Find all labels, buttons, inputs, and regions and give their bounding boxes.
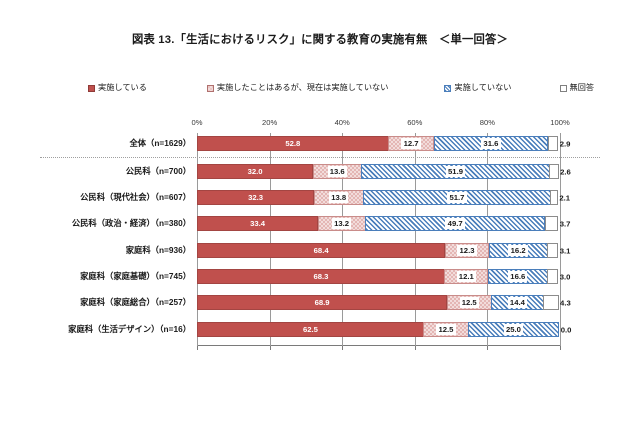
segment-no-answer[interactable]: 2.1 (550, 190, 558, 205)
row-category-label: 公民科（政治・経済）（n=380） (72, 216, 191, 231)
segment-past-only[interactable]: 12.5 (423, 322, 468, 337)
legend-item-0[interactable]: 実施している (88, 84, 147, 92)
plot-area: 全体（n=1629）52.812.731.62.9公民科（n=700）32.01… (197, 133, 560, 346)
segment-value-label: 13.2 (332, 218, 351, 229)
chart-row[interactable]: 家庭科（家庭基礎）（n=745）68.312.116.63.0 (197, 269, 560, 284)
segment-past-only[interactable]: 12.5 (447, 295, 492, 310)
x-tickmark-40 (342, 346, 343, 350)
segment-no-answer[interactable]: 3.0 (547, 269, 558, 284)
chart-row[interactable]: 公民科（政治・経済）（n=380）33.413.249.73.7 (197, 216, 560, 231)
chart-row[interactable]: 公民科（現代社会）（n=607）32.313.851.72.1 (197, 190, 560, 205)
segment-value-label: 12.1 (457, 271, 476, 282)
segment-past-only[interactable]: 13.8 (314, 190, 364, 205)
segment-past-only[interactable]: 13.2 (318, 216, 366, 231)
segment-not-implemented[interactable]: 16.2 (489, 243, 548, 258)
row-category-label: 家庭科（生活デザイン）（n=16） (68, 322, 191, 337)
segment-past-only[interactable]: 12.7 (388, 136, 434, 151)
gridline-100 (560, 133, 561, 346)
row-category-label: 家庭科（n=936） (126, 243, 191, 258)
segment-value-label: 3.7 (560, 219, 571, 228)
chart-page: 図表 13.「生活におけるリスク」に関する教育の実施有無 ＜単一回答＞ 実施して… (0, 0, 640, 426)
segment-value-label: 25.0 (504, 324, 523, 335)
chart-row[interactable]: 家庭科（生活デザイン）（n=16）62.512.525.00.0 (197, 322, 560, 337)
segment-value-label: 68.9 (315, 299, 330, 307)
segment-value-label: 62.5 (303, 326, 318, 334)
segment-value-label: 16.2 (508, 245, 527, 256)
legend-swatch-no-answer-icon (560, 85, 567, 92)
row-category-label: 公民科（n=700） (126, 164, 191, 179)
segment-implemented[interactable]: 32.3 (197, 190, 314, 205)
segment-implemented[interactable]: 52.8 (197, 136, 389, 151)
x-axis-line (197, 345, 560, 346)
segment-past-only[interactable]: 12.1 (444, 269, 488, 284)
row-category-label: 全体（n=1629） (129, 136, 191, 151)
segment-implemented[interactable]: 33.4 (197, 216, 318, 231)
chart-legend: 実施している実施したことはあるが、現在は実施していない実施していない無回答 (88, 82, 558, 95)
chart-row[interactable]: 家庭科（家庭総合）（n=257）68.912.514.44.3 (197, 295, 560, 310)
segment-value-label: 2.6 (560, 167, 571, 176)
legend-item-1[interactable]: 実施したことはあるが、現在は実施していない (207, 84, 389, 92)
segment-value-label: 52.8 (285, 140, 300, 148)
segment-value-label: 16.6 (508, 271, 527, 282)
legend-label: 実施している (98, 84, 147, 92)
segment-value-label: 12.7 (401, 138, 420, 149)
x-tick-label-60: 60% (407, 118, 422, 127)
row-category-label: 家庭科（家庭総合）（n=257） (80, 295, 191, 310)
chart-row[interactable]: 公民科（n=700）32.013.651.92.6 (197, 164, 560, 179)
segment-value-label: 12.3 (457, 245, 476, 256)
segment-not-implemented[interactable]: 51.9 (361, 164, 549, 179)
segment-past-only[interactable]: 13.6 (313, 164, 362, 179)
row-group-separator (40, 157, 600, 158)
segment-not-implemented[interactable]: 25.0 (468, 322, 559, 337)
segment-value-label: 14.4 (508, 297, 527, 308)
page-title: 図表 13.「生活におけるリスク」に関する教育の実施有無 ＜単一回答＞ (0, 31, 640, 47)
x-tick-label-20: 20% (262, 118, 277, 127)
segment-not-implemented[interactable]: 16.6 (488, 269, 548, 284)
legend-label: 実施したことはあるが、現在は実施していない (217, 84, 389, 92)
segment-implemented[interactable]: 68.3 (197, 269, 445, 284)
legend-swatch-not-implemented-icon (444, 85, 451, 92)
segment-no-answer[interactable]: 3.1 (547, 243, 558, 258)
segment-value-label: 51.7 (447, 192, 466, 203)
x-tick-label-40: 40% (335, 118, 350, 127)
segment-no-answer[interactable]: 2.6 (549, 164, 558, 179)
x-tickmark-60 (415, 346, 416, 350)
segment-value-label: 12.5 (460, 297, 479, 308)
segment-implemented[interactable]: 32.0 (197, 164, 313, 179)
segment-value-label: 32.3 (248, 194, 263, 202)
segment-value-label: 2.1 (559, 193, 570, 202)
segment-implemented[interactable]: 68.4 (197, 243, 445, 258)
segment-value-label: 3.0 (560, 272, 571, 281)
chart-row[interactable]: 全体（n=1629）52.812.731.62.9 (197, 136, 560, 151)
x-tick-label-80: 80% (480, 118, 495, 127)
legend-label: 実施していない (454, 84, 511, 92)
x-tickmark-80 (487, 346, 488, 350)
segment-past-only[interactable]: 12.3 (445, 243, 490, 258)
segment-no-answer[interactable]: 3.7 (545, 216, 558, 231)
segment-implemented[interactable]: 68.9 (197, 295, 447, 310)
segment-not-implemented[interactable]: 31.6 (434, 136, 549, 151)
segment-value-label: 68.4 (314, 247, 329, 255)
legend-label: 無回答 (570, 84, 595, 92)
legend-swatch-implemented-icon (88, 85, 95, 92)
chart-row[interactable]: 家庭科（n=936）68.412.316.23.1 (197, 243, 560, 258)
segment-value-label: 68.3 (313, 273, 328, 281)
segment-value-label: 51.9 (446, 166, 465, 177)
legend-item-3[interactable]: 無回答 (560, 84, 595, 92)
x-tickmark-0 (197, 346, 198, 350)
segment-value-label: 3.1 (560, 246, 571, 255)
segment-value-label: 49.7 (445, 218, 464, 229)
x-tick-label-0: 0% (192, 118, 203, 127)
segment-no-answer[interactable]: 2.9 (548, 136, 559, 151)
segment-value-label: 31.6 (481, 138, 500, 149)
segment-value-label: 4.3 (560, 298, 571, 307)
segment-value-label: 0.0 (561, 325, 572, 334)
segment-value-label: 33.4 (250, 220, 265, 228)
segment-value-label: 12.5 (436, 324, 455, 335)
segment-implemented[interactable]: 62.5 (197, 322, 424, 337)
segment-no-answer[interactable]: 4.3 (543, 295, 559, 310)
segment-value-label: 13.8 (329, 192, 348, 203)
x-tickmark-100 (560, 346, 561, 350)
segment-not-implemented[interactable]: 14.4 (491, 295, 543, 310)
legend-item-2[interactable]: 実施していない (444, 84, 511, 92)
x-tickmark-20 (270, 346, 271, 350)
row-category-label: 公民科（現代社会）（n=607） (80, 190, 191, 205)
x-tick-label-100: 100% (550, 118, 569, 127)
segment-value-label: 13.6 (328, 166, 347, 177)
x-axis-tick-labels: 0%20%40%60%80%100% (0, 118, 640, 130)
segment-not-implemented[interactable]: 51.7 (363, 190, 551, 205)
legend-swatch-past-only-icon (207, 85, 214, 92)
row-category-label: 家庭科（家庭基礎）（n=745） (80, 269, 191, 284)
segment-value-label: 32.0 (248, 168, 263, 176)
segment-value-label: 2.9 (560, 139, 571, 148)
segment-not-implemented[interactable]: 49.7 (365, 216, 545, 231)
